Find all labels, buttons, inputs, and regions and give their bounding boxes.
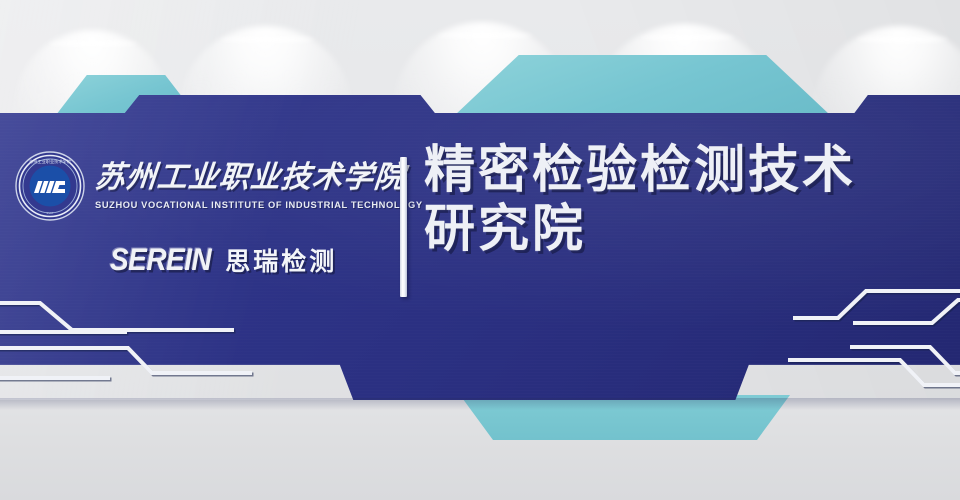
ceiling-light-core-3 <box>437 32 533 39</box>
partner-wordmark: SEREIN <box>110 242 211 278</box>
ceiling-light-core-5 <box>856 36 948 43</box>
signage-scene: 苏州工业职业技术学院 SVIIT 苏州工业职业技术学院 SUZHOU VOCAT… <box>0 0 960 500</box>
institute-headline: 精密检验检测技术 研究院 <box>424 141 944 259</box>
svg-text:苏州工业职业技术学院: 苏州工业职业技术学院 <box>29 158 72 165</box>
ceiling-light-core-2 <box>220 36 315 43</box>
university-name-block: 苏州工业职业技术学院 SUZHOU VOCATIONAL INSTITUTE O… <box>95 162 423 209</box>
partner-row: SEREIN 思瑞检测 <box>110 242 394 278</box>
university-crest-icon: 苏州工业职业技术学院 SVIIT <box>14 150 86 222</box>
ceiling-light-core-1 <box>48 40 138 47</box>
svg-text:SVIIT: SVIIT <box>46 211 54 215</box>
teal-accent-center-bottom <box>460 395 790 440</box>
vertical-divider <box>400 157 407 297</box>
sign-content: 苏州工业职业技术学院 SVIIT 苏州工业职业技术学院 SUZHOU VOCAT… <box>0 95 960 400</box>
university-name-en: SUZHOU VOCATIONAL INSTITUTE OF INDUSTRIA… <box>95 200 423 210</box>
brand-lockup: 苏州工业职业技术学院 SVIIT 苏州工业职业技术学院 SUZHOU VOCAT… <box>14 150 394 278</box>
university-name-cn: 苏州工业职业技术学院 <box>94 162 425 194</box>
ceiling-light-core-4 <box>640 34 735 41</box>
university-row: 苏州工业职业技术学院 SVIIT 苏州工业职业技术学院 SUZHOU VOCAT… <box>14 150 394 222</box>
partner-name-cn: 思瑞检测 <box>225 242 337 278</box>
